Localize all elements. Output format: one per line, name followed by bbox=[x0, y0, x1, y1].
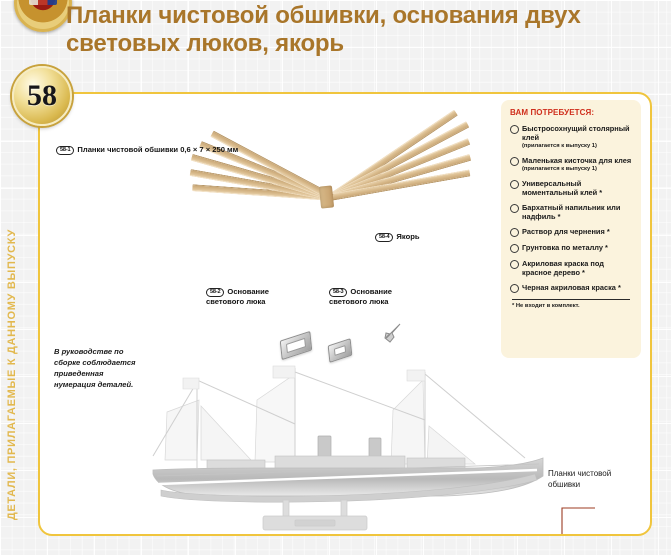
material-label: Маленькая кисточка для клея (прилагается… bbox=[522, 156, 631, 173]
page-title: Планки чистовой обшивки, основания двух … bbox=[66, 2, 646, 58]
material-label: Черная акриловая краска * bbox=[522, 283, 621, 292]
part-number-badge: 58-4 bbox=[375, 233, 393, 242]
material-note: (прилагается к выпуску 1) bbox=[522, 166, 631, 173]
numbering-note: В руководстве по сборке соблюдается прив… bbox=[54, 346, 140, 390]
material-label: Раствор для чернения * bbox=[522, 227, 610, 236]
materials-footnote: * Не входит в комплект. bbox=[510, 303, 632, 309]
part-callout-58-4: 58-4Якорь bbox=[375, 232, 420, 242]
material-item[interactable]: Акриловая краска под красное дерево * bbox=[510, 259, 632, 277]
checkbox-icon[interactable] bbox=[510, 260, 519, 269]
checkbox-icon[interactable] bbox=[510, 125, 519, 134]
plank-bundle-band bbox=[319, 185, 334, 208]
material-label: Универсальный моментальный клей * bbox=[522, 179, 632, 197]
material-item[interactable]: Маленькая кисточка для клея (прилагается… bbox=[510, 156, 632, 173]
material-text: Маленькая кисточка для клея bbox=[522, 156, 631, 165]
material-item[interactable]: Грунтовка по металлу * bbox=[510, 243, 632, 253]
plank-leader-line bbox=[190, 506, 595, 536]
material-label: Быстросохнущий столярный клей (прилагает… bbox=[522, 124, 632, 150]
part-number-badge: 58-2 bbox=[206, 288, 224, 297]
skylight-base-part-1 bbox=[280, 331, 312, 360]
leader-dot bbox=[214, 534, 226, 536]
part-label: Планки чистовой обшивки 0,6 × 7 × 250 мм bbox=[77, 145, 238, 154]
issue-number-text: 58 bbox=[27, 81, 57, 111]
materials-title: ВАМ ПОТРЕБУЕТСЯ: bbox=[510, 108, 632, 117]
checkbox-icon[interactable] bbox=[510, 244, 519, 253]
leader-svg bbox=[190, 506, 595, 536]
part-callout-58-3: 58-3Основание светового люка bbox=[329, 287, 409, 306]
material-item[interactable]: Быстросохнущий столярный клей (прилагает… bbox=[510, 124, 632, 150]
material-item[interactable]: Универсальный моментальный клей * bbox=[510, 179, 632, 197]
part-callout-58-1: 58-1Планки чистовой обшивки 0,6 × 7 × 25… bbox=[56, 145, 286, 155]
leader-dot bbox=[306, 534, 318, 536]
spine-label: ДЕТАЛИ, ПРИЛАГАЕМЫЕ К ДАННОМУ ВЫПУСКУ bbox=[0, 120, 24, 520]
material-text: Быстросохнущий столярный клей bbox=[522, 124, 630, 142]
checkbox-icon[interactable] bbox=[510, 204, 519, 213]
leader-path bbox=[194, 508, 595, 536]
material-label: Грунтовка по металлу * bbox=[522, 243, 608, 252]
part-number-badge: 58-1 bbox=[56, 146, 74, 155]
ship-callout-label: Планки чистовой обшивки bbox=[548, 469, 640, 491]
material-label: Бархатный напильник или надфиль * bbox=[522, 203, 632, 221]
skylight-base-part-2 bbox=[328, 338, 353, 363]
part-label: Якорь bbox=[396, 232, 419, 241]
material-item[interactable]: Черная акриловая краска * bbox=[510, 283, 632, 293]
material-label: Акриловая краска под красное дерево * bbox=[522, 259, 632, 277]
issue-number-badge: 58 bbox=[12, 66, 72, 126]
leader-dot bbox=[414, 534, 426, 536]
part-number-badge: 58-3 bbox=[329, 288, 347, 297]
part-callout-58-2: 58-2Основание светового люка bbox=[206, 287, 286, 306]
content-card: 58-1Планки чистовой обшивки 0,6 × 7 × 25… bbox=[38, 92, 652, 536]
material-item[interactable]: Бархатный напильник или надфиль * bbox=[510, 203, 632, 221]
materials-panel: ВАМ ПОТРЕБУЕТСЯ: Быстросохнущий столярны… bbox=[501, 100, 641, 358]
material-item[interactable]: Раствор для чернения * bbox=[510, 227, 632, 237]
checkbox-icon[interactable] bbox=[510, 180, 519, 189]
checkbox-icon[interactable] bbox=[510, 228, 519, 237]
anchor-icon bbox=[380, 322, 406, 346]
checkbox-icon[interactable] bbox=[510, 284, 519, 293]
planks-illustration bbox=[200, 102, 460, 297]
spine-label-text: ДЕТАЛИ, ПРИЛАГАЕМЫЕ К ДАННОМУ ВЫПУСКУ bbox=[6, 229, 18, 520]
checkbox-icon[interactable] bbox=[510, 157, 519, 166]
anchor-part bbox=[380, 322, 406, 346]
materials-divider bbox=[512, 299, 630, 300]
material-note: (прилагается к выпуску 1) bbox=[522, 143, 632, 150]
